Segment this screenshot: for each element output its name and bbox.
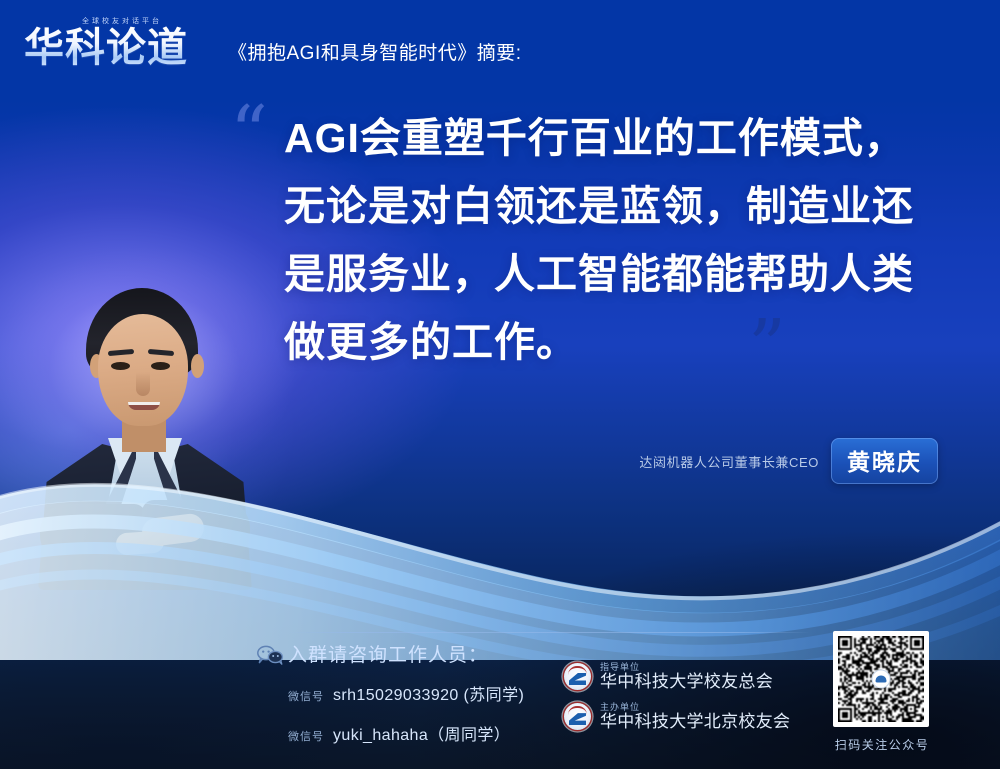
quote-attribution: 达闼机器人公司董事长兼CEO 黄晓庆 [228, 440, 938, 482]
wechat-icon [256, 644, 284, 666]
contact-title: 入群请咨询工作人员： [288, 640, 524, 667]
org-kind: 主办单位 [600, 702, 790, 712]
portrait-hand-lower [115, 530, 164, 555]
header-bar: 全球校友对话平台 华科论道 《拥抱AGI和具身智能时代》摘要: [0, 0, 1000, 92]
org-row: 指导单位 华中科技大学校友总会 [564, 662, 790, 691]
qr-center-logo-icon [873, 671, 890, 688]
speaker-role: 达闼机器人公司董事长兼CEO [639, 452, 819, 471]
contact-value: srh15029033920 (苏同学) [333, 681, 524, 705]
contact-block: 入群请咨询工作人员： 微信号 srh15029033920 (苏同学) 微信号 … [288, 640, 524, 761]
page-title: 《拥抱AGI和具身智能时代》摘要: [228, 38, 522, 65]
qr-block: 扫码关注公众号 [833, 631, 931, 753]
speaker-name-badge: 黄晓庆 [831, 438, 938, 484]
quote-close-mark: ” [748, 320, 786, 374]
university-seal-icon [564, 703, 591, 730]
logo-wordmark: 华科论道 [24, 26, 220, 70]
qr-caption: 扫码关注公众号 [833, 736, 931, 753]
qr-code[interactable] [833, 631, 929, 727]
contact-row[interactable]: 微信号 srh15029033920 (苏同学) [288, 681, 524, 705]
org-name: 华中科技大学校友总会 [600, 672, 773, 691]
university-seal-icon [564, 663, 591, 690]
organizations-block: 指导单位 华中科技大学校友总会 主办单位 华中科技大学北京校友会 [564, 662, 790, 742]
org-kind: 指导单位 [600, 662, 773, 672]
contact-label: 微信号 [288, 688, 324, 704]
quote-open-mark: “ [230, 106, 268, 160]
footer-divider [287, 632, 810, 633]
portrait-mouth [128, 402, 160, 410]
portrait-eye-right [151, 362, 170, 370]
contact-row[interactable]: 微信号 yuki_hahaha（周同学） [288, 721, 524, 745]
brand-logo[interactable]: 全球校友对话平台 华科论道 [24, 8, 220, 70]
contact-label: 微信号 [288, 728, 324, 744]
org-row: 主办单位 华中科技大学北京校友会 [564, 702, 790, 731]
quote-text: AGI会重塑千行百业的工作模式，无论是对白领还是蓝领，制造业还是服务业，人工智能… [284, 104, 934, 376]
poster-canvas: 全球校友对话平台 华科论道 《拥抱AGI和具身智能时代》摘要: “ AGI会重塑… [0, 0, 1000, 769]
portrait-nose [136, 372, 150, 396]
quote-block: “ AGI会重塑千行百业的工作模式，无论是对白领还是蓝领，制造业还是服务业，人工… [228, 104, 938, 376]
portrait-eye-left [111, 362, 130, 370]
contact-value: yuki_hahaha（周同学） [333, 721, 510, 745]
portrait-ear-right [191, 354, 204, 378]
org-name: 华中科技大学北京校友会 [600, 712, 790, 731]
